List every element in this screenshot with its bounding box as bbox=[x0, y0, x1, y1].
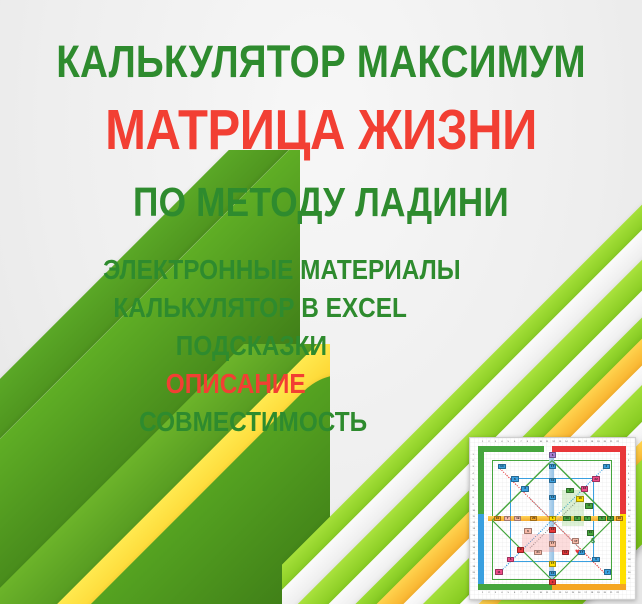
ruler-tick-top: 19 bbox=[597, 441, 599, 443]
ruler-tick-right: 20 bbox=[628, 572, 630, 574]
matrix-node-tr-4: 4 bbox=[603, 464, 610, 470]
ruler-tick-left: 4 bbox=[473, 473, 474, 475]
matrix-node-mid-r4: 6 bbox=[598, 516, 605, 522]
matrix-node-tl-14: 14 bbox=[498, 464, 505, 470]
matrix-node-c-11b: 11 bbox=[587, 530, 594, 536]
ruler-bottom-right bbox=[552, 584, 626, 590]
ruler-tick-left: 7 bbox=[473, 491, 474, 493]
ruler-top-left bbox=[478, 446, 544, 452]
ruler-left-bottom bbox=[478, 514, 484, 584]
matrix-node-mid-r1: 20 bbox=[563, 516, 570, 522]
feature-item-4: СОВМЕСТИМОСТЬ bbox=[42, 404, 601, 440]
ruler-right-bottom bbox=[620, 514, 626, 584]
ruler-tick-bottom: 4 bbox=[501, 592, 502, 594]
matrix-node-mid-r2: 6 bbox=[574, 516, 581, 522]
ruler-tick-left: 2 bbox=[473, 460, 474, 462]
ruler-tick-top: 1 bbox=[482, 441, 483, 443]
matrix-node-mid-r3: 7 bbox=[584, 516, 591, 522]
ruler-tick-right: 1 bbox=[628, 454, 629, 456]
feature-item-0: ЭЛЕКТРОННЫЕ МАТЕРИАЛЫ bbox=[42, 252, 601, 288]
ruler-left-top bbox=[478, 452, 484, 514]
ruler-tick-left: 10 bbox=[473, 510, 475, 512]
ruler-tick-right: 6 bbox=[628, 485, 629, 487]
matrix-node-mid-r6: 10 bbox=[616, 516, 623, 522]
ruler-tick-right: 17 bbox=[628, 553, 630, 555]
ruler-tick-left: 8 bbox=[473, 497, 474, 499]
ruler-tick-top: 13 bbox=[559, 441, 561, 443]
matrix-node-tr-16: 16 bbox=[581, 486, 588, 492]
ruler-tick-right: 9 bbox=[628, 504, 629, 506]
matrix-node-top-inner: 17 bbox=[549, 464, 556, 470]
matrix-node-br-6: 6 bbox=[592, 557, 599, 563]
ruler-tick-bottom: 6 bbox=[514, 592, 515, 594]
ruler-tick-right: 18 bbox=[628, 559, 630, 561]
matrix-node-mid-l2: 7 bbox=[504, 516, 511, 522]
ruler-tick-right: 3 bbox=[628, 466, 629, 468]
matrix-node-c-r-11: 11 bbox=[562, 550, 569, 556]
headline-line-2: МАТРИЦА ЖИЗНИ bbox=[45, 96, 597, 164]
matrix-node-mid-r5: 8 bbox=[607, 516, 614, 522]
ruler-bottom-left bbox=[478, 584, 552, 590]
matrix-node-tr-22: 22 bbox=[592, 476, 599, 482]
ruler-tick-top: 12 bbox=[552, 441, 554, 443]
ruler-tick-bottom: 2 bbox=[488, 592, 489, 594]
ruler-tick-right: 14 bbox=[628, 535, 630, 537]
ruler-right-top bbox=[620, 452, 626, 514]
feature-item-2: ПОДСКАЗКИ bbox=[42, 328, 601, 364]
ruler-tick-left: 5 bbox=[473, 479, 474, 481]
headline-line-1: КАЛЬКУЛЯТОР МАКСИМУМ bbox=[45, 34, 597, 90]
feature-label-2: ПОДСКАЗКИ bbox=[176, 328, 327, 364]
matrix-node-tr-9: 9 bbox=[566, 488, 573, 494]
ruler-tick-right: 5 bbox=[628, 479, 629, 481]
ruler-tick-top: 3 bbox=[495, 441, 496, 443]
feature-label-3: ОПИСАНИЕ bbox=[166, 366, 306, 402]
matrix-node-tr-16b: 16 bbox=[576, 496, 583, 502]
ruler-tick-top: 8 bbox=[527, 441, 528, 443]
matrix-node-top-11: 11 bbox=[549, 478, 556, 484]
ruler-tick-bottom: 20 bbox=[604, 592, 606, 594]
ruler-tick-left: 14 bbox=[473, 535, 475, 537]
matrix-node-b-bottom: 4 bbox=[549, 579, 556, 585]
matrix-node-mid-l1: 10 bbox=[494, 516, 501, 522]
ruler-tick-top: 17 bbox=[584, 441, 586, 443]
matrix-node-center: 5 bbox=[549, 516, 556, 522]
ruler-tick-left: 21 bbox=[473, 578, 475, 580]
ruler-tick-right: 15 bbox=[628, 541, 630, 543]
matrix-node-top-16: 16 bbox=[549, 495, 556, 501]
ruler-tick-bottom: 17 bbox=[584, 592, 586, 594]
ruler-tick-bottom: 11 bbox=[546, 592, 548, 594]
ruler-tick-bottom: 22 bbox=[616, 592, 618, 594]
promo-banner: КАЛЬКУЛЯТОР МАКСИМУМ МАТРИЦА ЖИЗНИ ПО МЕ… bbox=[0, 0, 642, 604]
ruler-tick-bottom: 21 bbox=[610, 592, 612, 594]
matrix-node-c-l-21: 21 bbox=[534, 550, 541, 556]
ruler-tick-bottom: 13 bbox=[559, 592, 561, 594]
ruler-tick-right: 10 bbox=[628, 510, 630, 512]
matrix-node-c-17b: 17 bbox=[572, 538, 579, 544]
matrix-of-life-chart[interactable]: 1234567891011121314151617181920212212345… bbox=[469, 437, 636, 600]
matrix-node-c-10: 10 bbox=[549, 527, 556, 533]
ruler-tick-right: 8 bbox=[628, 497, 629, 499]
ruler-tick-right: 19 bbox=[628, 566, 630, 568]
matrix-node-b-10: 10 bbox=[549, 571, 556, 577]
ruler-tick-left: 3 bbox=[473, 466, 474, 468]
ruler-tick-left: 17 bbox=[473, 553, 475, 555]
ruler-tick-right: 21 bbox=[628, 578, 630, 580]
ruler-tick-right: 7 bbox=[628, 491, 629, 493]
ruler-tick-bottom: 5 bbox=[508, 592, 509, 594]
ruler-tick-top: 15 bbox=[572, 441, 574, 443]
ruler-tick-left: 20 bbox=[473, 572, 475, 574]
ruler-tick-left: 15 bbox=[473, 541, 475, 543]
feature-item-1: КАЛЬКУЛЯТОР В EXCEL bbox=[42, 290, 601, 326]
ruler-tick-left: 1 bbox=[473, 454, 474, 456]
matrix-node-tr-11: 11 bbox=[585, 503, 592, 509]
ruler-tick-left: 18 bbox=[473, 559, 475, 561]
feature-label-4: СОВМЕСТИМОСТЬ bbox=[139, 404, 367, 440]
matrix-node-tl-3: 3 bbox=[521, 486, 528, 492]
ruler-tick-bottom: 7 bbox=[520, 592, 521, 594]
ruler-tick-right: 2 bbox=[628, 460, 629, 462]
headline-line-3: ПО МЕТОДУ ЛАДИНИ bbox=[45, 176, 597, 228]
ruler-tick-bottom: 12 bbox=[552, 592, 554, 594]
matrix-node-br-7: 7 bbox=[604, 569, 611, 575]
ruler-tick-bottom: 10 bbox=[540, 592, 542, 594]
ruler-tick-right: 12 bbox=[628, 522, 630, 524]
ruler-tick-top: 16 bbox=[578, 441, 580, 443]
ruler-tick-bottom: 16 bbox=[578, 592, 580, 594]
ruler-tick-bottom: 3 bbox=[495, 592, 496, 594]
matrix-node-bl-11: 11 bbox=[495, 569, 502, 575]
ruler-tick-bottom: 19 bbox=[597, 592, 599, 594]
ruler-tick-top: 9 bbox=[533, 441, 534, 443]
ruler-tick-right: 13 bbox=[628, 528, 630, 530]
ruler-tick-bottom: 14 bbox=[565, 592, 567, 594]
ruler-tick-left: 9 bbox=[473, 504, 474, 506]
ruler-tick-top: 14 bbox=[565, 441, 567, 443]
matrix-node-b-15: 15 bbox=[549, 561, 556, 567]
matrix-node-mid-l3: 19 bbox=[514, 516, 521, 522]
matrix-node-c-17: 17 bbox=[549, 541, 556, 547]
matrix-canvas: 1234567891011121314151617181920212212345… bbox=[470, 438, 635, 599]
ruler-tick-top: 4 bbox=[501, 441, 502, 443]
matrix-node-mid-l4: 20 bbox=[530, 516, 537, 522]
ruler-tick-top: 6 bbox=[514, 441, 515, 443]
ruler-tick-right: 4 bbox=[628, 473, 629, 475]
ruler-tick-left: 6 bbox=[473, 485, 474, 487]
ruler-tick-top: 10 bbox=[540, 441, 542, 443]
money-icon: $ bbox=[591, 538, 595, 545]
ruler-tick-left: 12 bbox=[473, 522, 475, 524]
ruler-tick-top: 21 bbox=[610, 441, 612, 443]
ruler-tick-left: 19 bbox=[473, 566, 475, 568]
matrix-node-top: 6 bbox=[549, 452, 556, 458]
ruler-tick-bottom: 9 bbox=[533, 592, 534, 594]
ruler-tick-left: 11 bbox=[473, 516, 475, 518]
matrix-node-tl-6: 6 bbox=[511, 476, 518, 482]
ruler-tick-top: 22 bbox=[616, 441, 618, 443]
ruler-tick-top: 5 bbox=[508, 441, 509, 443]
feature-item-3: ОПИСАНИЕ bbox=[42, 366, 601, 402]
ruler-tick-bottom: 18 bbox=[591, 592, 593, 594]
ruler-tick-right: 11 bbox=[628, 516, 630, 518]
ruler-tick-top: 18 bbox=[591, 441, 593, 443]
ruler-tick-top: 7 bbox=[520, 441, 521, 443]
feature-label-0: ЭЛЕКТРОННЫЕ МАТЕРИАЛЫ bbox=[103, 252, 460, 288]
ruler-tick-bottom: 1 bbox=[482, 592, 483, 594]
ruler-tick-bottom: 15 bbox=[572, 592, 574, 594]
ruler-tick-bottom: 8 bbox=[527, 592, 528, 594]
heart-icon: ♥ bbox=[575, 548, 580, 556]
matrix-node-bl-6: 6 bbox=[507, 557, 514, 563]
ruler-tick-left: 16 bbox=[473, 547, 475, 549]
ruler-tick-right: 16 bbox=[628, 547, 630, 549]
ruler-tick-top: 20 bbox=[604, 441, 606, 443]
ruler-tick-top: 11 bbox=[546, 441, 548, 443]
ruler-tick-left: 13 bbox=[473, 528, 475, 530]
ruler-tick-top: 2 bbox=[488, 441, 489, 443]
matrix-node-bl-9: 9 bbox=[517, 547, 524, 553]
ruler-top-right bbox=[552, 446, 626, 452]
feature-label-1: КАЛЬКУЛЯТОР В EXCEL bbox=[113, 290, 406, 326]
matrix-node-ml-6: 6 bbox=[524, 528, 531, 534]
